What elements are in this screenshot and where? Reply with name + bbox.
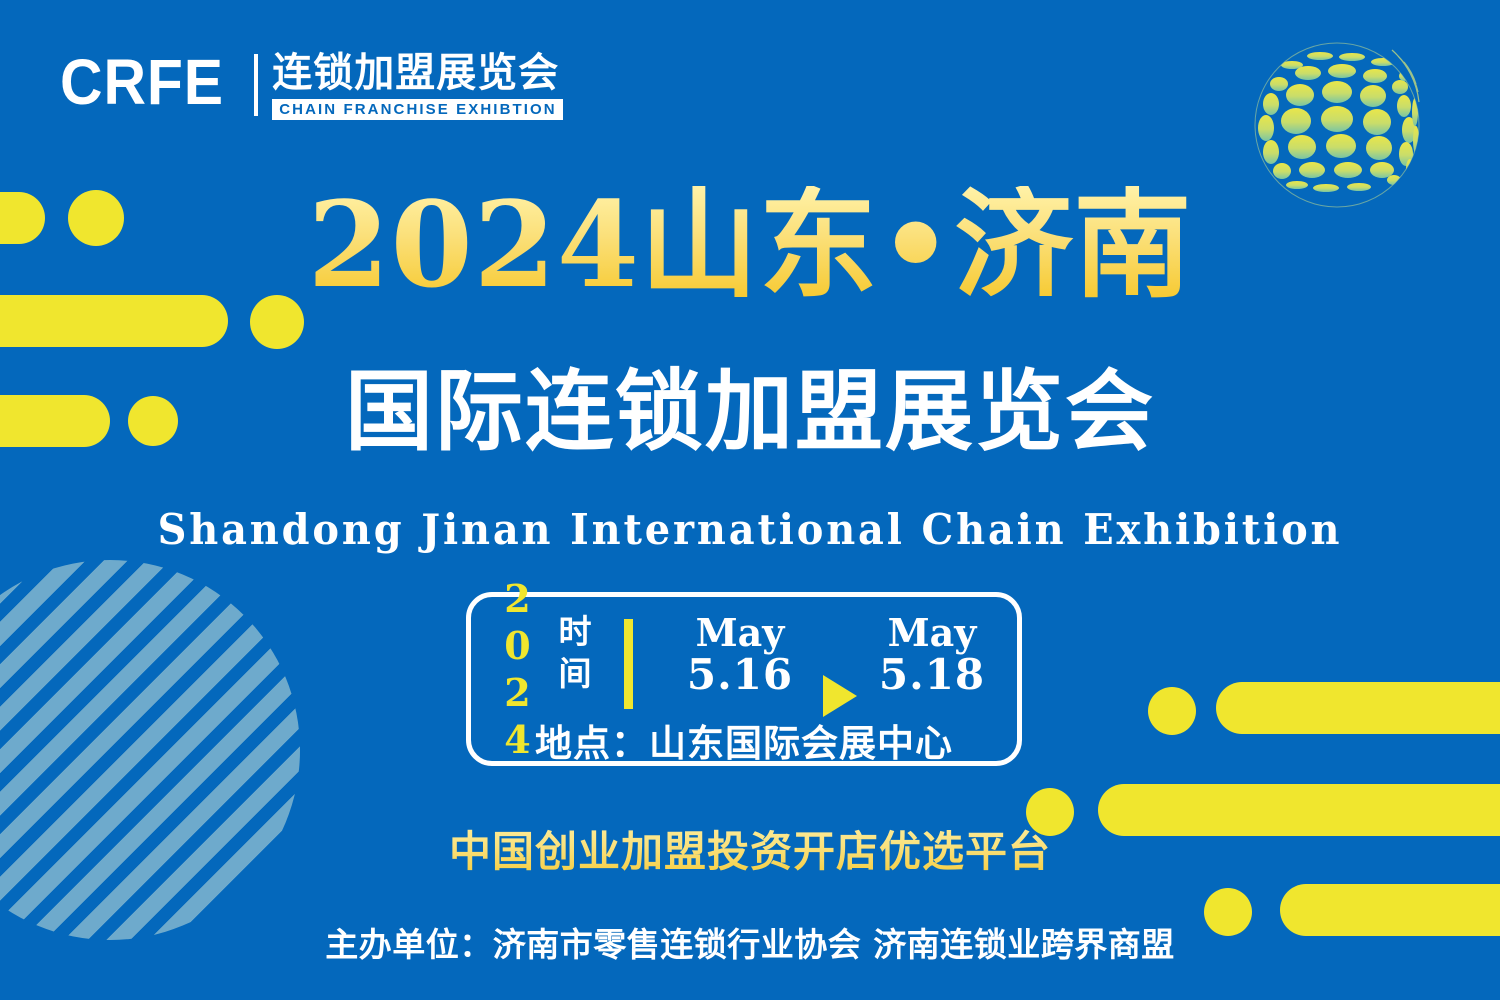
event-end-date: May 5.18	[847, 613, 1017, 698]
end-day: 5.18	[847, 653, 1017, 698]
start-month: May	[655, 613, 825, 653]
decor-bar-right-1	[1216, 682, 1500, 734]
page-subtitle: 国际连锁加盟展览会	[0, 368, 1500, 456]
striped-circle-icon	[0, 560, 300, 940]
end-month: May	[847, 613, 1017, 653]
logo-english-bar: CHAIN FRANCHISE EXHIBTION	[272, 99, 563, 120]
event-date-row: 2024 时间 May 5.16 May 5.18	[471, 597, 1017, 709]
event-tagline: 中国创业加盟投资开店优选平台	[0, 818, 1500, 879]
event-start-date: May 5.16	[655, 613, 825, 698]
logo-acronym: CRFE	[60, 52, 224, 113]
logo-divider	[254, 54, 258, 116]
event-info-box: 2024 时间 May 5.16 May 5.18 地点：山东国际会展中心	[466, 592, 1022, 766]
page-title-english: Shandong Jinan International Chain Exhib…	[38, 505, 1463, 554]
page-title: 2024山东•济南	[0, 186, 1500, 304]
logo-chinese-name: 连锁加盟展览会	[272, 52, 563, 94]
start-day: 5.16	[655, 653, 825, 698]
time-label: 时间	[547, 611, 603, 695]
event-year: 2024	[493, 611, 541, 729]
logo-text-group: 连锁加盟展览会 CHAIN FRANCHISE EXHIBTION	[272, 52, 563, 120]
event-organizer: 主办单位：济南市零售连锁行业协会 济南连锁业跨界商盟	[0, 918, 1500, 966]
event-poster: CRFE 连锁加盟展览会 CHAIN FRANCHISE EXHIBTION 2…	[0, 0, 1500, 1000]
crfe-logo: CRFE 连锁加盟展览会 CHAIN FRANCHISE EXHIBTION	[60, 52, 563, 120]
event-venue: 地点：山东国际会展中心	[471, 713, 1017, 767]
vertical-rule	[624, 619, 633, 709]
dotted-globe-icon	[1252, 40, 1422, 210]
decor-dot-right-1	[1148, 687, 1196, 735]
